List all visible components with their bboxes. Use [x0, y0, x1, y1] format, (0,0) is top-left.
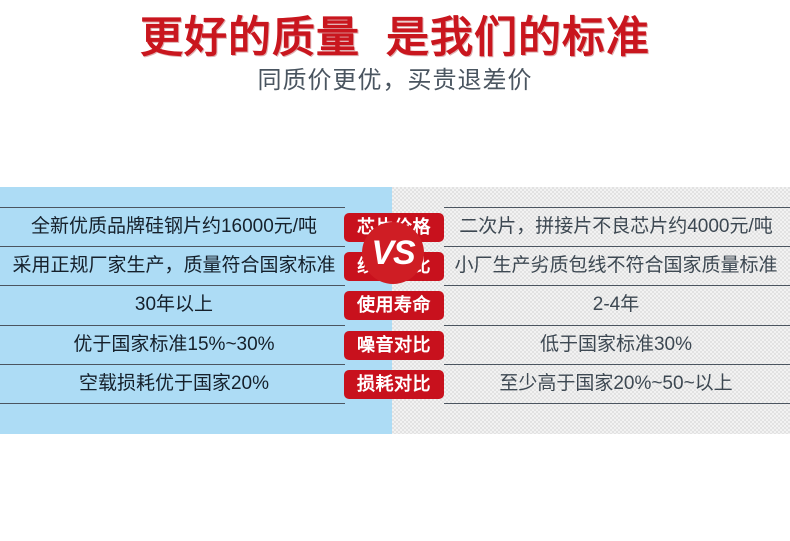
versus-band: 创联汇通及国际品牌企业 VS 小规模或小作坊生产企业	[0, 110, 790, 182]
table-row: 30年以上 使用寿命 2-4年	[0, 285, 790, 324]
table-bottom-divider-left	[0, 403, 345, 404]
page-subtitle: 同质价更优，买贵退差价	[0, 62, 790, 94]
watermark-subtext: CHUANGLIAN HUITONG	[126, 521, 360, 533]
row-left-value: 采用正规厂家生产，质量符合国家标准	[4, 247, 344, 285]
page-header: 更好的质量 是我们的标准 同质价更优，买贵退差价	[0, 0, 790, 108]
row-left-value: 全新优质品牌硅钢片约16000元/吨	[4, 208, 344, 246]
row-category-badge: 使用寿命	[344, 291, 444, 320]
watermark: 创联汇通 CHUANGLIAN HUITONG	[60, 475, 350, 541]
row-right-value: 至少高于国家20%~50~以上	[444, 365, 788, 403]
row-category-badge: 损耗对比	[344, 370, 444, 399]
row-left-value: 30年以上	[4, 286, 344, 324]
row-right-value: 低于国家标准30%	[444, 326, 788, 364]
table-row: 优于国家标准15%~30% 噪音对比 低于国家标准30%	[0, 325, 790, 364]
row-right-value: 二次片，拼接片不良芯片约4000元/吨	[444, 208, 788, 246]
row-left-value: 优于国家标准15%~30%	[4, 326, 344, 364]
row-right-value: 2-4年	[444, 286, 788, 324]
versus-badge: VS	[362, 222, 424, 284]
row-left-value: 空载损耗优于国家20%	[4, 365, 344, 403]
diamond-logo-icon	[60, 477, 116, 533]
table-bottom-divider-right	[444, 403, 790, 404]
row-right-value: 小厂生产劣质包线不符合国家质量标准	[444, 247, 788, 285]
row-category-badge: 噪音对比	[344, 331, 444, 360]
table-row: 空载损耗优于国家20% 损耗对比 至少高于国家20%~50~以上	[0, 364, 790, 403]
watermark-text: 创联汇通	[124, 475, 292, 521]
page-title: 更好的质量 是我们的标准	[0, 0, 790, 62]
